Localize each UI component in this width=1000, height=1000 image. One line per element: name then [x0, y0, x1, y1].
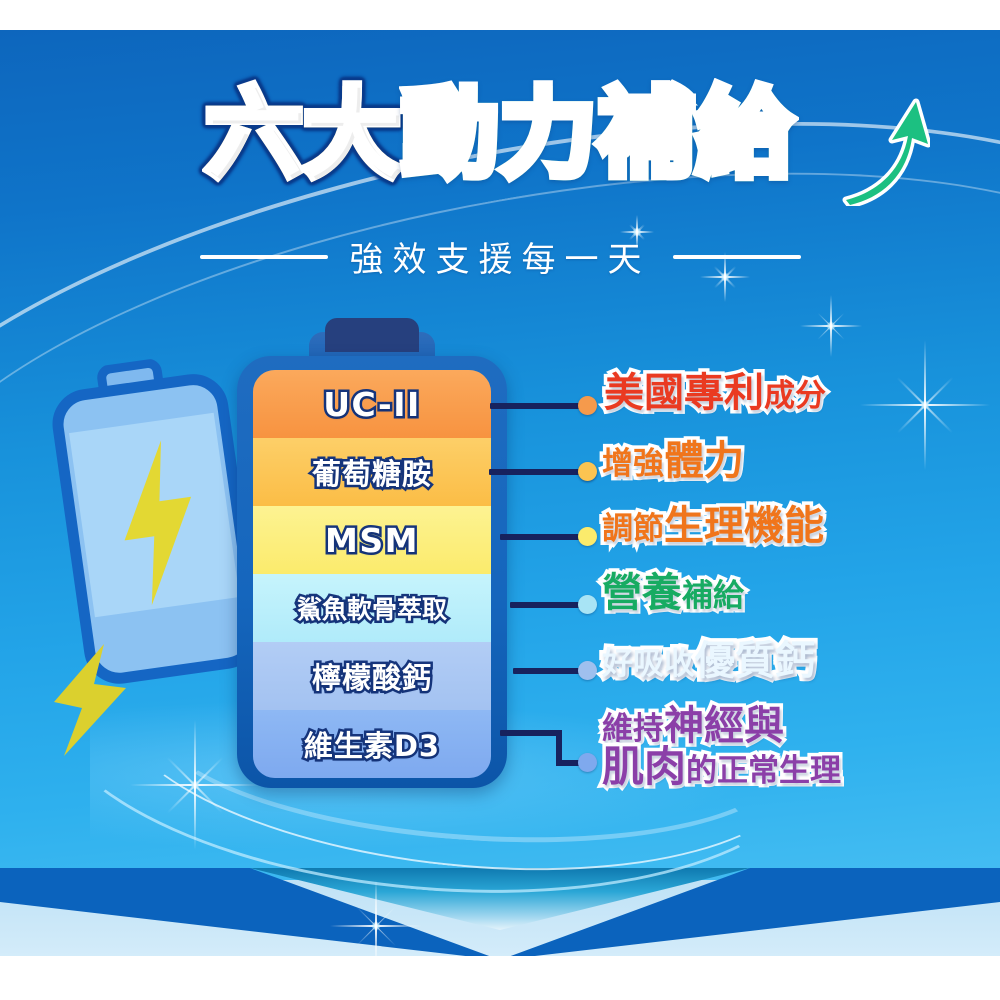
battery-segments: UC-II 葡萄糖胺 MSM 鯊魚軟骨萃取 檸檬酸鈣 維生素D3	[253, 370, 491, 778]
benefit-1: 美國專利成分	[604, 372, 826, 415]
benefit-5-primary: 好吸收	[602, 648, 695, 681]
benefit-3-primary: 調節	[602, 513, 664, 546]
battery-segment-label: 葡萄糖胺	[312, 451, 432, 493]
benefit-6: 維持神經與 肌肉的正常生理	[602, 706, 841, 788]
subtitle-divider-left	[200, 255, 328, 259]
connector-dot	[578, 661, 597, 680]
poster-canvas: 六大動力補給 強效支援每一天 UC-II 葡萄糖胺 MSM	[0, 0, 1000, 1000]
battery-segment-msm[interactable]: MSM	[253, 506, 491, 574]
page-title: 六大動力補給	[206, 86, 794, 182]
benefit-2-primary: 增強	[602, 448, 664, 481]
battery-segment-uc2[interactable]: UC-II	[253, 370, 491, 438]
benefit-4-primary: 營養	[602, 572, 682, 615]
benefit-1-primary: 美國專利	[604, 372, 764, 415]
battery-segment-label: 維生素D3	[304, 723, 440, 765]
benefit-6-l2-primary: 肌肉	[602, 742, 686, 791]
battery-icon: UC-II 葡萄糖胺 MSM 鯊魚軟骨萃取 檸檬酸鈣 維生素D3	[237, 318, 507, 788]
subtitle-divider-right	[673, 255, 801, 259]
subtitle-row: 強效支援每一天	[0, 232, 1000, 281]
battery-segment-vitamin-d3[interactable]: 維生素D3	[253, 710, 491, 778]
connector-dot	[578, 396, 597, 415]
benefit-3: 調節生理機能	[602, 505, 824, 548]
benefit-4: 營養補給	[602, 572, 744, 615]
battery-segment-glucosamine[interactable]: 葡萄糖胺	[253, 438, 491, 506]
green-arrow-swoosh-icon	[840, 96, 930, 206]
benefit-3-secondary: 生理機能	[664, 505, 824, 548]
battery-segment-calcium-citrate[interactable]: 檸檬酸鈣	[253, 642, 491, 710]
benefit-6-l2-secondary: 的正常生理	[686, 753, 841, 789]
battery-terminal	[325, 318, 419, 352]
connector-dot	[578, 462, 597, 481]
battery-segment-shark-cartilage[interactable]: 鯊魚軟骨萃取	[253, 574, 491, 642]
benefit-2: 增強體力	[602, 440, 744, 483]
bottom-white-margin	[0, 956, 1000, 1000]
benefit-5-secondary: 優質鈣	[695, 640, 815, 683]
benefit-6-line-2: 肌肉的正常生理	[602, 746, 841, 788]
benefit-4-secondary: 補給	[682, 580, 744, 613]
connector-dot	[578, 527, 597, 546]
benefit-2-secondary: 體力	[664, 440, 744, 483]
battery-segment-label: 檸檬酸鈣	[312, 655, 432, 697]
lightning-bolt-icon	[48, 640, 132, 760]
connector-dot	[578, 753, 597, 772]
benefit-6-line-1: 維持神經與	[602, 706, 841, 746]
title-green-part: 動力補給	[402, 86, 794, 182]
battery-segment-label: 鯊魚軟骨萃取	[297, 590, 447, 626]
title-gold-part: 六大	[206, 86, 402, 182]
top-white-margin	[0, 0, 1000, 30]
battery-segment-label: UC-II	[323, 385, 421, 424]
benefit-1-secondary: 成分	[764, 380, 826, 413]
battery-segment-label: MSM	[325, 521, 419, 560]
subtitle: 強效支援每一天	[350, 232, 651, 281]
benefit-5: 好吸收優質鈣	[602, 640, 815, 683]
connector-dot	[578, 595, 597, 614]
